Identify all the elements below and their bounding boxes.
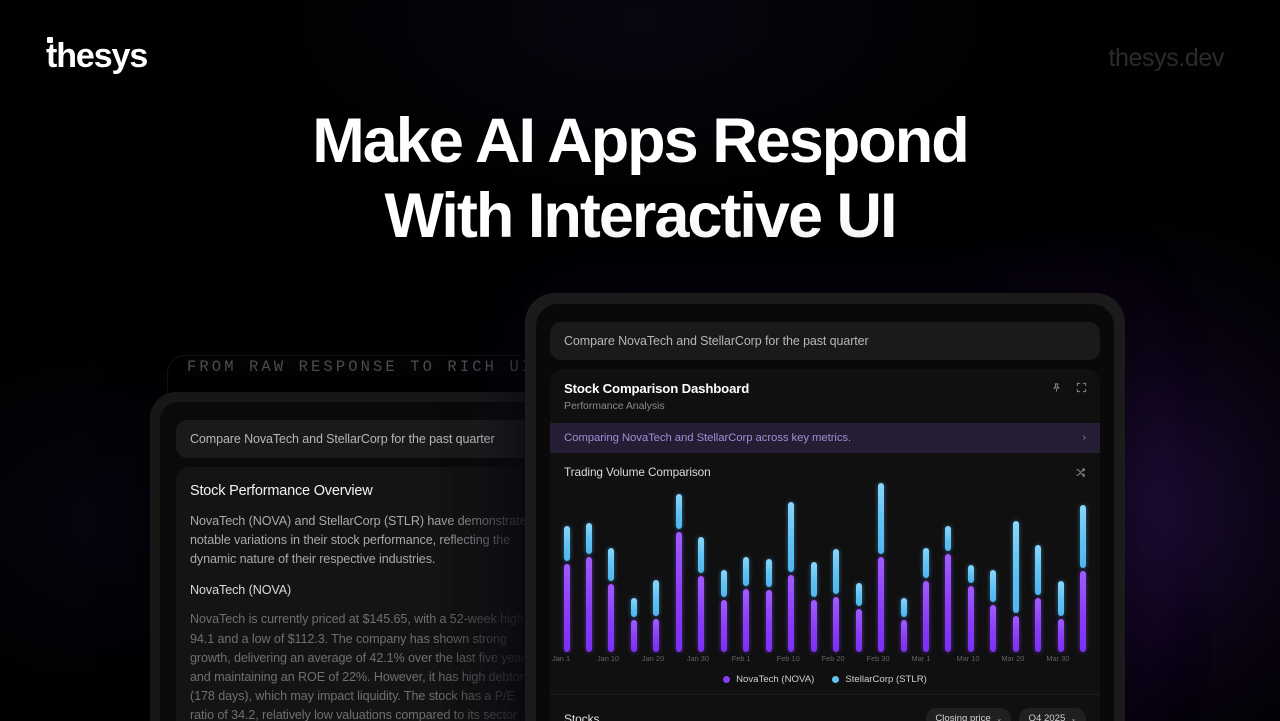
- brand-logo[interactable]: thesys: [46, 38, 168, 74]
- insight-banner[interactable]: Comparing NovaTech and StellarCorp acros…: [550, 423, 1100, 453]
- chart-bar-group: [1034, 494, 1043, 652]
- chart-bar-group: [764, 494, 773, 652]
- chart-bar-group: [854, 494, 863, 652]
- bar-nova: [743, 589, 749, 652]
- x-axis-tick: [664, 654, 673, 668]
- bar-nova: [721, 600, 727, 652]
- bar-stlr: [1080, 505, 1086, 568]
- legend-item[interactable]: NovaTech (NOVA): [723, 674, 814, 685]
- nova-heading: NovaTech (NOVA): [190, 583, 540, 597]
- chart-bar-group: [1056, 494, 1065, 652]
- chart-bars: [562, 494, 1088, 652]
- front-device-frame: Compare NovaTech and StellarCorp for the…: [525, 293, 1125, 721]
- chevron-down-icon: ⌄: [996, 715, 1003, 721]
- pin-icon[interactable]: [1051, 382, 1062, 393]
- period-select[interactable]: Q4 2025 ⌄: [1019, 708, 1086, 721]
- bar-stlr: [990, 570, 996, 602]
- bar-nova: [1080, 571, 1086, 652]
- chart-bar-group: [877, 494, 886, 652]
- trading-volume-chart: Jan 1Jan 10Jan 20Jan 30Feb 1Feb 10Feb 20…: [562, 487, 1088, 652]
- front-device-screen: Compare NovaTech and StellarCorp for the…: [536, 304, 1114, 721]
- bar-stlr: [945, 526, 951, 551]
- stocks-label: Stocks: [564, 712, 599, 721]
- nova-body: NovaTech is currently priced at $145.65,…: [190, 610, 540, 721]
- x-axis-tick: Jan 10: [597, 654, 606, 668]
- bar-stlr: [923, 548, 929, 578]
- x-axis-tick: [709, 654, 718, 668]
- stocks-toolbar: Stocks Closing price ⌄ Q4 2025 ⌄: [550, 694, 1100, 721]
- x-axis-tick: [574, 654, 583, 668]
- chart-bar-group: [1011, 494, 1020, 652]
- x-axis-tick: [799, 654, 808, 668]
- x-axis-tick: Jan 30: [687, 654, 696, 668]
- bar-stlr: [676, 494, 682, 529]
- bar-stlr: [788, 502, 794, 572]
- x-axis-tick: [754, 654, 763, 668]
- logo-dot-icon: [47, 37, 53, 43]
- chart-bar-group: [922, 494, 931, 652]
- x-axis-tick: [934, 654, 943, 668]
- chart-bar-group: [629, 494, 638, 652]
- x-axis-tick: Feb 20: [822, 654, 831, 668]
- chart-bar-group: [719, 494, 728, 652]
- bar-nova: [766, 590, 772, 652]
- bar-stlr: [968, 565, 974, 582]
- chart-header: Trading Volume Comparison: [550, 453, 1100, 481]
- stocks-filters: Closing price ⌄ Q4 2025 ⌄: [926, 708, 1086, 721]
- bar-nova: [811, 600, 817, 652]
- chart-bar-group: [674, 494, 683, 652]
- bar-stlr: [901, 598, 907, 617]
- front-prompt-input[interactable]: Compare NovaTech and StellarCorp for the…: [550, 322, 1100, 360]
- x-axis-tick: [619, 654, 628, 668]
- x-axis-tick: Jan 20: [642, 654, 651, 668]
- chart-x-axis: Jan 1Jan 10Jan 20Jan 30Feb 1Feb 10Feb 20…: [562, 654, 1088, 668]
- bar-nova: [788, 575, 794, 652]
- legend-item[interactable]: StellarCorp (STLR): [832, 674, 927, 685]
- bar-nova: [564, 564, 570, 652]
- chart-bar-group: [584, 494, 593, 652]
- eyebrow-text: FROM RAW RESPONSE TO RICH UI: [187, 358, 534, 376]
- bar-stlr: [721, 570, 727, 597]
- legend-label: StellarCorp (STLR): [845, 674, 927, 685]
- bar-stlr: [564, 526, 570, 561]
- chart-bar-group: [899, 494, 908, 652]
- bar-nova: [990, 605, 996, 652]
- period-select-value: Q4 2025: [1028, 713, 1065, 721]
- bar-nova: [1013, 616, 1019, 652]
- eyebrow-label: FROM RAW RESPONSE TO RICH UI →: [185, 358, 550, 376]
- legend-dot-icon: [723, 676, 730, 683]
- chart-bar-group: [787, 494, 796, 652]
- bar-nova: [901, 620, 907, 652]
- bar-stlr: [811, 562, 817, 597]
- back-prompt-input[interactable]: Compare NovaTech and StellarCorp for the…: [176, 420, 554, 458]
- x-axis-tick: [1069, 654, 1078, 668]
- bar-nova: [631, 620, 637, 652]
- chart-bar-group: [697, 494, 706, 652]
- x-axis-tick: [1024, 654, 1033, 668]
- dashboard-subtitle: Performance Analysis: [564, 400, 1086, 412]
- insight-text: Comparing NovaTech and StellarCorp acros…: [564, 432, 851, 444]
- page-root: thesys thesys.dev Make AI Apps Respond W…: [0, 0, 1280, 721]
- back-device-screen: Compare NovaTech and StellarCorp for the…: [160, 402, 570, 721]
- x-axis-tick: [889, 654, 898, 668]
- chart-title: Trading Volume Comparison: [564, 465, 711, 479]
- chart-bar-group: [809, 494, 818, 652]
- card-title: Stock Performance Overview: [190, 483, 540, 499]
- bar-stlr: [833, 549, 839, 593]
- bar-nova: [1035, 598, 1041, 652]
- metric-select[interactable]: Closing price ⌄: [926, 708, 1011, 721]
- chart-bar-group: [607, 494, 616, 652]
- chart-bar-group: [966, 494, 975, 652]
- bar-stlr: [1035, 545, 1041, 596]
- logo-mark: thesys: [46, 38, 168, 74]
- card-intro: NovaTech (NOVA) and StellarCorp (STLR) h…: [190, 512, 540, 569]
- bar-stlr: [878, 483, 884, 554]
- chart-bar-group: [562, 494, 571, 652]
- x-axis-tick: Feb 30: [867, 654, 876, 668]
- bar-stlr: [653, 580, 659, 616]
- x-axis-tick: Feb 10: [777, 654, 786, 668]
- shuffle-icon[interactable]: [1075, 467, 1086, 478]
- chart-legend: NovaTech (NOVA)StellarCorp (STLR): [550, 674, 1100, 694]
- bar-nova: [698, 576, 704, 652]
- x-axis-tick: Feb 1: [732, 654, 741, 668]
- back-device-frame: Compare NovaTech and StellarCorp for the…: [150, 392, 580, 721]
- fullscreen-icon[interactable]: [1076, 382, 1087, 393]
- site-url: thesys.dev: [1108, 44, 1224, 73]
- x-axis-tick: [844, 654, 853, 668]
- bar-nova: [1058, 619, 1064, 652]
- chart-bar-group: [1079, 494, 1088, 652]
- dashboard-title: Stock Comparison Dashboard: [564, 381, 1086, 396]
- bar-stlr: [631, 598, 637, 617]
- legend-dot-icon: [832, 676, 839, 683]
- chevron-down-icon: ⌄: [1070, 715, 1077, 721]
- x-axis-tick: Jan 1: [552, 654, 561, 668]
- x-axis-tick: Mar 30: [1046, 654, 1055, 668]
- chevron-right-icon: ›: [1082, 433, 1086, 444]
- chart-bar-group: [989, 494, 998, 652]
- bar-stlr: [766, 559, 772, 587]
- x-axis-tick: Mar 1: [912, 654, 921, 668]
- bar-nova: [968, 586, 974, 652]
- bar-stlr: [743, 557, 749, 585]
- bar-nova: [653, 619, 659, 652]
- dashboard-header-actions: [1051, 382, 1087, 393]
- page-title: Make AI Apps Respond With Interactive UI: [0, 104, 1280, 254]
- legend-label: NovaTech (NOVA): [736, 674, 814, 685]
- dashboard-header: Stock Comparison Dashboard Performance A…: [550, 369, 1100, 423]
- bar-nova: [923, 581, 929, 652]
- bar-nova: [586, 557, 592, 652]
- stock-performance-card: Stock Performance Overview NovaTech (NOV…: [176, 467, 554, 721]
- stock-comparison-dashboard: Stock Comparison Dashboard Performance A…: [550, 369, 1100, 721]
- x-axis-tick: Mar 10: [956, 654, 965, 668]
- x-axis-tick: Mar 20: [1001, 654, 1010, 668]
- chart-bar-group: [742, 494, 751, 652]
- bar-stlr: [698, 537, 704, 573]
- bar-stlr: [1058, 581, 1064, 616]
- x-axis-tick: [979, 654, 988, 668]
- chart-bar-group: [944, 494, 953, 652]
- bar-nova: [833, 597, 839, 652]
- chart-bar-group: [652, 494, 661, 652]
- logo-wordmark: thesys: [46, 38, 168, 74]
- headline-line-2: With Interactive UI: [0, 179, 1280, 254]
- bar-nova: [676, 532, 682, 652]
- bar-nova: [878, 557, 884, 652]
- headline-line-1: Make AI Apps Respond: [0, 104, 1280, 179]
- bar-stlr: [586, 523, 592, 555]
- chart-bar-group: [832, 494, 841, 652]
- bar-stlr: [608, 548, 614, 581]
- bar-stlr: [1013, 521, 1019, 613]
- bar-stlr: [856, 583, 862, 607]
- bar-nova: [856, 609, 862, 652]
- metric-select-value: Closing price: [935, 713, 990, 721]
- bar-nova: [945, 554, 951, 652]
- bar-nova: [608, 584, 614, 652]
